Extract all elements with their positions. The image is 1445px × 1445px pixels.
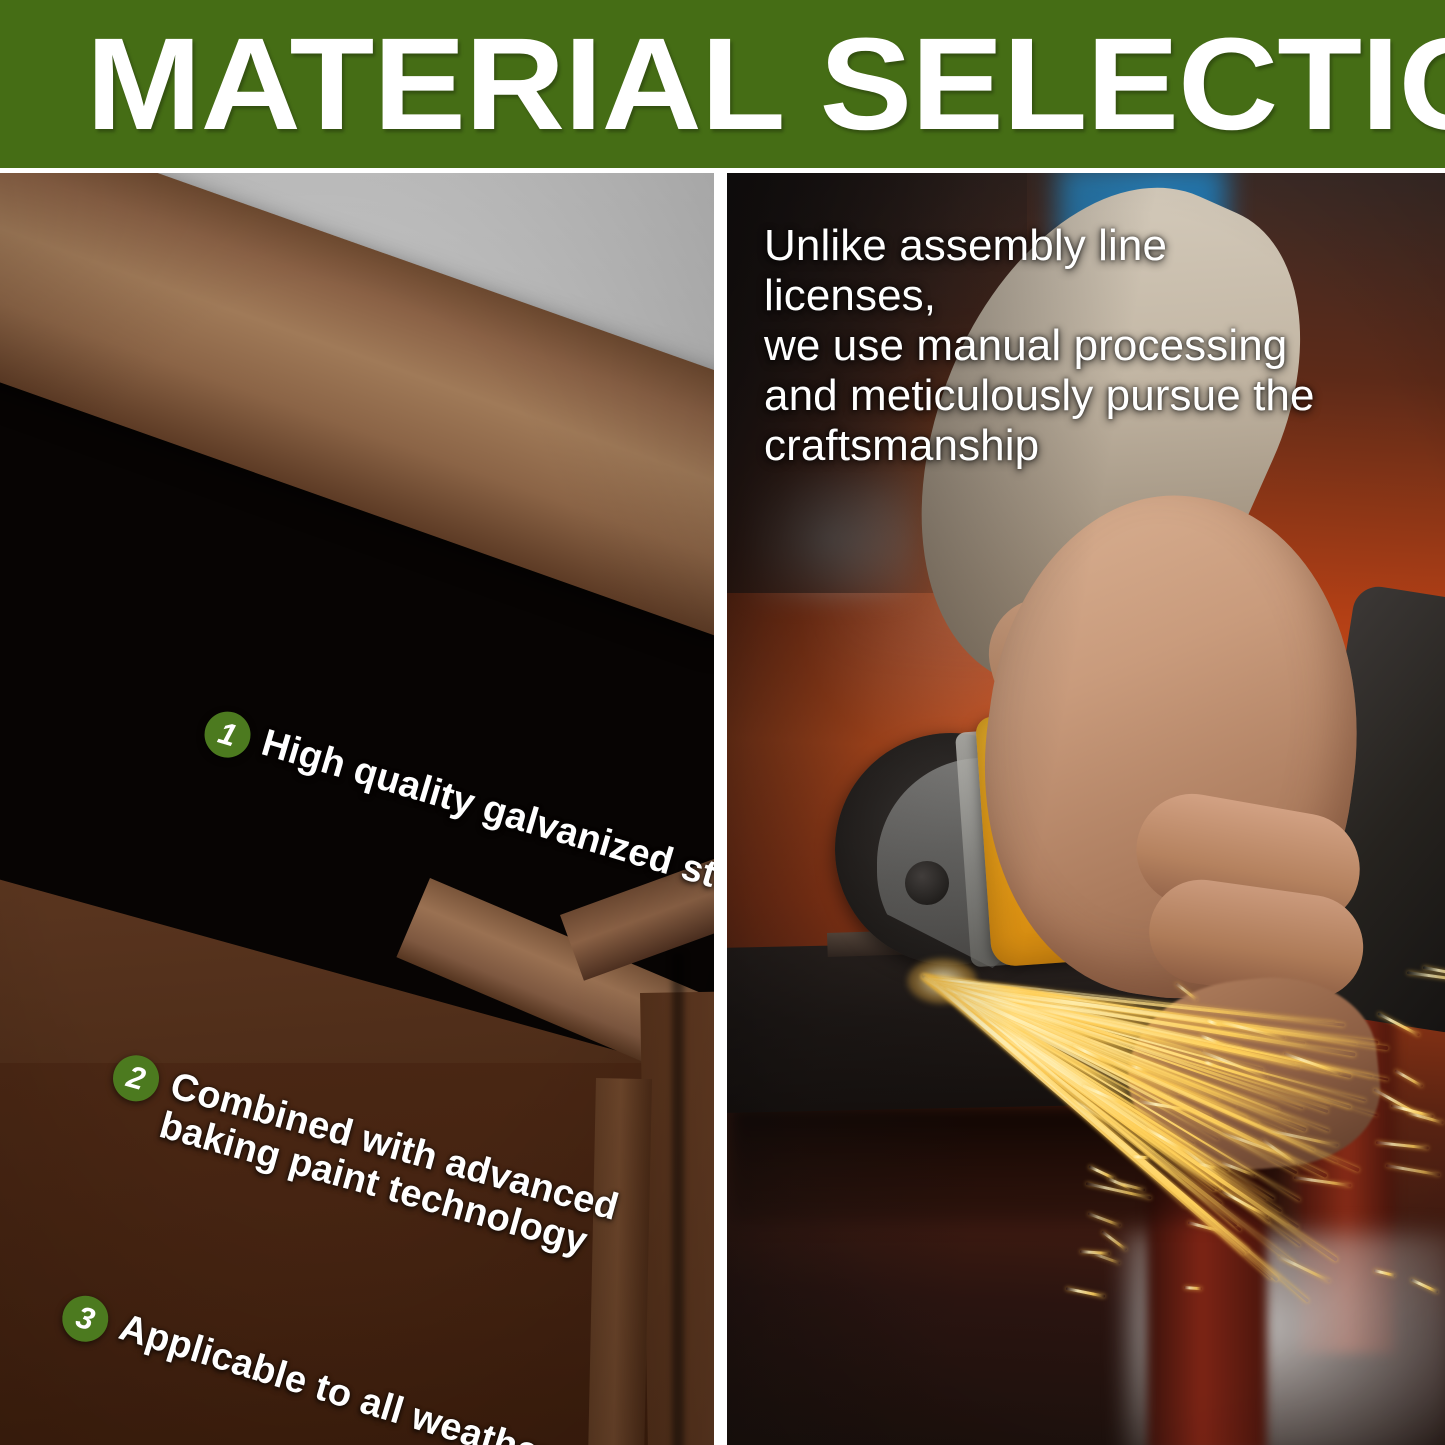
- left-product-photo-panel: 1 High quality galvanized steel 2 Combin…: [0, 173, 714, 1445]
- planter-corner-shadow: [672, 953, 684, 1445]
- headline-line-4: craftsmanship: [764, 421, 1039, 470]
- right-workshop-photo-panel: Unlike assembly line licenses, we use ma…: [727, 173, 1445, 1445]
- material-selection-infographic: MATERIAL SELECTION 1 High quality galvan…: [0, 0, 1445, 1445]
- headline-line-1: Unlike assembly line licenses,: [764, 221, 1167, 320]
- headline-line-3: and meticulously pursue the: [764, 371, 1315, 420]
- right-panel-headline: Unlike assembly line licenses, we use ma…: [764, 221, 1324, 471]
- page-title: MATERIAL SELECTION: [86, 22, 1445, 146]
- grinder-spindle-lock: [905, 861, 949, 905]
- header-banner: MATERIAL SELECTION: [0, 0, 1445, 168]
- panel-row: 1 High quality galvanized steel 2 Combin…: [0, 168, 1445, 1445]
- headline-line-2: we use manual processing: [764, 321, 1287, 370]
